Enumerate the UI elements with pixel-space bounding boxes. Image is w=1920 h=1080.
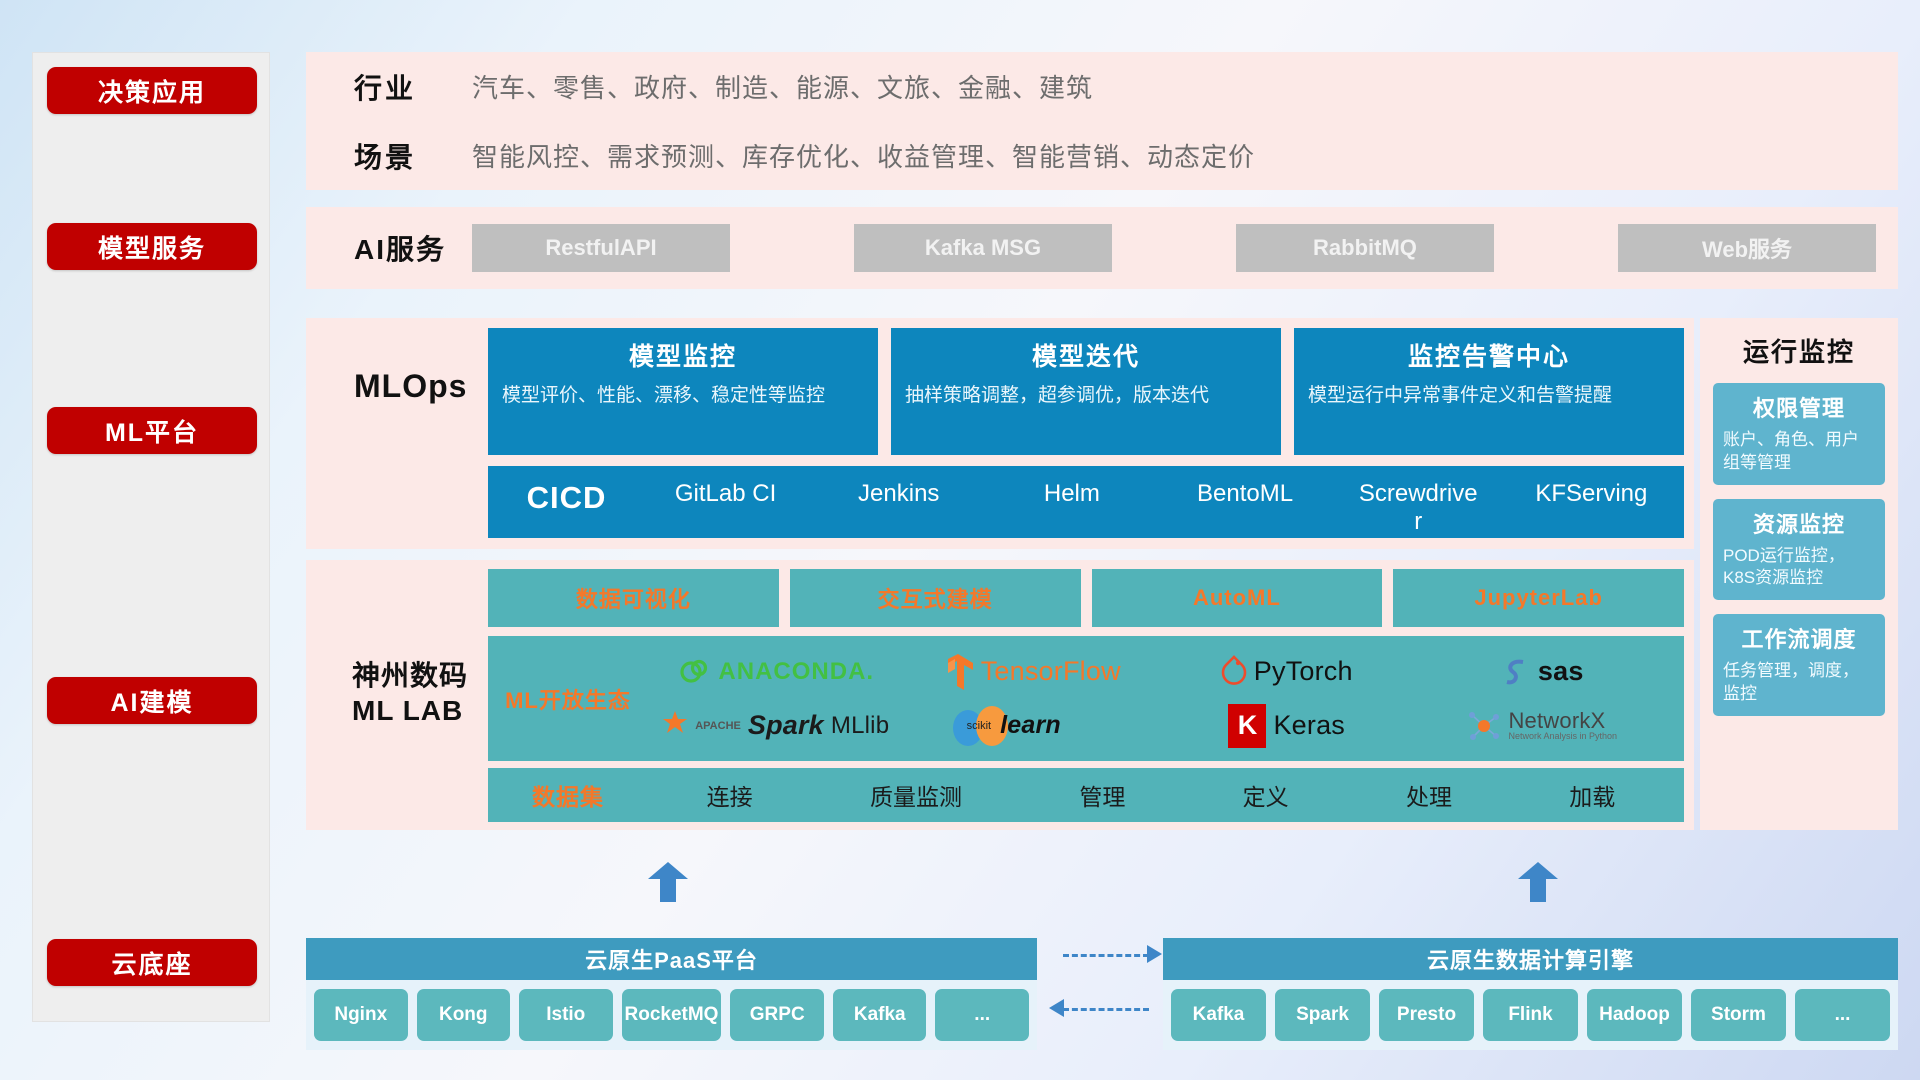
lab-tab-list: 数据可视化 交互式建模 AutoML JupyterLab (488, 569, 1684, 627)
rail-label: ML平台 (105, 413, 199, 449)
arrowhead-left-icon (1049, 999, 1064, 1017)
service-chip-rabbitmq[interactable]: RabbitMQ (1236, 224, 1494, 272)
dataset-bar: 数据集 连接 质量监测 管理 定义 处理 加载 (488, 768, 1684, 822)
lab-tab-jupyterlab[interactable]: JupyterLab (1393, 569, 1684, 627)
scenario-value: 智能风控、需求预测、库存优化、收益管理、智能营销、动态定价 (472, 137, 1255, 174)
card-title: 工作流调度 (1723, 622, 1875, 654)
rail-item-ai-modeling[interactable]: AI建模 (47, 677, 257, 724)
mlops-card-alert-center[interactable]: 监控告警中心 模型运行中异常事件定义和告警提醒 (1294, 328, 1684, 455)
dataset-item-connect[interactable]: 连接 (707, 778, 753, 812)
anaconda-logo-icon (677, 655, 711, 689)
card-desc: 模型运行中异常事件定义和告警提醒 (1308, 383, 1670, 409)
logo-label: sas (1538, 656, 1584, 687)
logo-networkx[interactable]: NetworkX Network Analysis in Python (1467, 699, 1617, 753)
logo-anaconda[interactable]: ANACONDA. (677, 645, 874, 699)
engine-chip-spark[interactable]: Spark (1275, 989, 1370, 1041)
service-chip-restfulapi[interactable]: RestfulAPI (472, 224, 730, 272)
cloud-paas-group: 云原生PaaS平台 Nginx Kong Istio RocketMQ GRPC… (306, 938, 1037, 1050)
cicd-item-helm[interactable]: Helm (1009, 480, 1135, 535)
mlops-card-model-iteration[interactable]: 模型迭代 抽样策略调整，超参调优，版本迭代 (891, 328, 1281, 455)
cloud-chip-rocketmq[interactable]: RocketMQ (622, 989, 722, 1041)
rail-label: AI建模 (110, 683, 193, 719)
logo-label: learn (1000, 711, 1061, 740)
scenario-label: 场景 (354, 136, 472, 176)
dashed-line-left (1063, 1008, 1149, 1011)
ml-lab-label-line1: 神州数码 (352, 658, 468, 693)
card-title: 资源监控 (1723, 507, 1875, 539)
application-band: 行业 汽车、零售、政府、制造、能源、文旅、金融、建筑 场景 智能风控、需求预测、… (306, 52, 1898, 190)
ml-lab-label: 神州数码 ML LAB (352, 658, 468, 728)
rail-label: 云底座 (111, 945, 192, 981)
spark-apache-label: APACHE (695, 720, 741, 732)
cloud-chip-grpc[interactable]: GRPC (730, 989, 824, 1041)
keras-logo-icon: K (1228, 704, 1266, 748)
mlops-card-list: 模型监控 模型评价、性能、漂移、稳定性等监控 模型迭代 抽样策略调整，超参调优，… (488, 328, 1684, 455)
cloud-chip-more[interactable]: ... (935, 989, 1029, 1041)
ml-lab-label-line2: ML LAB (352, 693, 468, 728)
cloud-paas-chip-list: Nginx Kong Istio RocketMQ GRPC Kafka ... (306, 980, 1037, 1050)
lab-tab-interactive-modeling[interactable]: 交互式建模 (790, 569, 1081, 627)
cloud-chip-kong[interactable]: Kong (417, 989, 511, 1041)
runtime-monitor-title: 运行监控 (1700, 318, 1898, 369)
engine-chip-hadoop[interactable]: Hadoop (1587, 989, 1682, 1041)
tensorflow-logo-icon (942, 653, 974, 691)
cloud-engine-title: 云原生数据计算引擎 (1163, 938, 1898, 980)
card-title: 权限管理 (1723, 391, 1875, 423)
arrow-engine-to-lab-icon (1518, 862, 1558, 902)
arrowhead-right-icon (1147, 945, 1162, 963)
logo-spark-mllib[interactable]: APACHE Spark MLlib (662, 699, 889, 753)
industry-value: 汽车、零售、政府、制造、能源、文旅、金融、建筑 (472, 68, 1093, 105)
card-title: 模型监控 (502, 337, 864, 373)
cicd-item-gitlab-ci[interactable]: GitLab CI (663, 480, 789, 535)
bidirectional-link-arrows (1063, 932, 1163, 1028)
logo-label: TensorFlow (981, 656, 1121, 687)
logo-label: MLlib (831, 712, 889, 740)
engine-chip-flink[interactable]: Flink (1483, 989, 1578, 1041)
ml-ecosystem-panel: ML开放生态 ANACONDA. TensorFlow (488, 636, 1684, 761)
mlops-band: MLOps 模型监控 模型评价、性能、漂移、稳定性等监控 模型迭代 抽样策略调整… (306, 318, 1694, 549)
runtime-monitor-panel: 运行监控 权限管理 账户、角色、用户组等管理 资源监控 POD运行监控，K8S资… (1700, 318, 1898, 830)
cicd-item-screwdriver[interactable]: Screwdriver (1355, 480, 1481, 535)
service-chip-kafka-msg[interactable]: Kafka MSG (854, 224, 1112, 272)
cicd-item-jenkins[interactable]: Jenkins (836, 480, 962, 535)
cloud-engine-group: 云原生数据计算引擎 Kafka Spark Presto Flink Hadoo… (1163, 938, 1898, 1050)
cloud-paas-title: 云原生PaaS平台 (306, 938, 1037, 980)
cloud-chip-kafka[interactable]: Kafka (833, 989, 927, 1041)
cloud-engine-chip-list: Kafka Spark Presto Flink Hadoop Storm ..… (1163, 980, 1898, 1050)
ai-service-chip-list: RestfulAPI Kafka MSG RabbitMQ Web服务 (472, 224, 1898, 272)
engine-chip-kafka[interactable]: Kafka (1171, 989, 1266, 1041)
ml-ecosystem-logo-grid: ANACONDA. TensorFlow PyTorch (648, 645, 1684, 753)
dataset-item-list: 连接 质量监测 管理 定义 处理 加载 (648, 778, 1684, 812)
rail-label: 模型服务 (98, 229, 206, 265)
cloud-chip-nginx[interactable]: Nginx (314, 989, 408, 1041)
dashed-line-right (1063, 954, 1149, 957)
card-desc: 模型评价、性能、漂移、稳定性等监控 (502, 383, 864, 409)
cloud-chip-istio[interactable]: Istio (519, 989, 613, 1041)
cicd-title: CICD (494, 480, 639, 516)
dataset-item-define[interactable]: 定义 (1243, 778, 1289, 812)
engine-chip-more[interactable]: ... (1795, 989, 1890, 1041)
monitor-card-workflow[interactable]: 工作流调度 任务管理，调度，监控 (1713, 614, 1885, 716)
card-desc: 任务管理，调度，监控 (1723, 660, 1875, 706)
spark-word: Spark (748, 710, 824, 741)
engine-chip-storm[interactable]: Storm (1691, 989, 1786, 1041)
card-desc: 账户、角色、用户组等管理 (1723, 429, 1875, 475)
cicd-item-kfserving[interactable]: KFServing (1528, 480, 1654, 535)
logo-label: NetworkX (1508, 709, 1617, 732)
ai-service-label: AI服务 (354, 228, 472, 268)
dataset-item-load[interactable]: 加载 (1569, 778, 1615, 812)
monitor-card-resource[interactable]: 资源监控 POD运行监控，K8S资源监控 (1713, 499, 1885, 601)
mlops-card-model-monitoring[interactable]: 模型监控 模型评价、性能、漂移、稳定性等监控 (488, 328, 878, 455)
ai-service-band: AI服务 RestfulAPI Kafka MSG RabbitMQ Web服务 (306, 207, 1898, 289)
cicd-bar: CICD GitLab CI Jenkins Helm BentoML Scre… (488, 466, 1684, 538)
card-title: 模型迭代 (905, 337, 1267, 373)
layer-rail: 决策应用 模型服务 ML平台 AI建模 云底座 (32, 52, 270, 1022)
lab-tab-data-visualization[interactable]: 数据可视化 (488, 569, 779, 627)
sas-logo-icon (1501, 656, 1531, 688)
cicd-item-bentoml[interactable]: BentoML (1182, 480, 1308, 535)
ml-lab-band: 神州数码 ML LAB 数据可视化 交互式建模 AutoML JupyterLa… (306, 560, 1694, 830)
pytorch-logo-icon (1221, 655, 1247, 689)
card-title: 监控告警中心 (1308, 337, 1670, 373)
ml-ecosystem-label: ML开放生态 (488, 683, 648, 715)
rail-item-cloud-base[interactable]: 云底座 (47, 939, 257, 986)
logo-keras[interactable]: K Keras (1228, 699, 1345, 753)
networkx-logo-icon (1467, 709, 1501, 743)
industry-row: 行业 汽车、零售、政府、制造、能源、文旅、金融、建筑 (306, 52, 1898, 121)
dataset-item-quality[interactable]: 质量监测 (870, 778, 962, 812)
monitor-card-permission[interactable]: 权限管理 账户、角色、用户组等管理 (1713, 383, 1885, 485)
dataset-item-manage[interactable]: 管理 (1079, 778, 1125, 812)
logo-tensorflow[interactable]: TensorFlow (942, 645, 1121, 699)
scenario-row: 场景 智能风控、需求预测、库存优化、收益管理、智能营销、动态定价 (306, 121, 1898, 190)
rail-item-decision-app[interactable]: 决策应用 (47, 67, 257, 114)
engine-chip-presto[interactable]: Presto (1379, 989, 1474, 1041)
industry-label: 行业 (354, 67, 472, 107)
rail-item-ml-platform[interactable]: ML平台 (47, 407, 257, 454)
dataset-label: 数据集 (488, 778, 648, 812)
dataset-item-process[interactable]: 处理 (1406, 778, 1452, 812)
logo-pytorch[interactable]: PyTorch (1221, 645, 1353, 699)
cicd-item-list: GitLab CI Jenkins Helm BentoML Screwdriv… (639, 480, 1678, 535)
logo-label: PyTorch (1254, 656, 1353, 687)
networkx-sublabel: Network Analysis in Python (1508, 732, 1617, 741)
card-desc: 抽样策略调整，超参调优，版本迭代 (905, 383, 1267, 409)
arrow-paas-to-lab-icon (648, 862, 688, 902)
diagram-canvas: 决策应用 模型服务 ML平台 AI建模 云底座 行业 汽车、零售、政府、制造、能… (0, 0, 1920, 1080)
spark-logo-icon (662, 711, 688, 741)
rail-item-model-service[interactable]: 模型服务 (47, 223, 257, 270)
scikit-word: scikit (967, 720, 991, 732)
logo-label: Keras (1273, 710, 1345, 741)
logo-scikit-learn[interactable]: scikit learn (950, 699, 1113, 753)
logo-sas[interactable]: sas (1501, 645, 1584, 699)
mlops-label: MLOps (354, 368, 467, 405)
card-desc: POD运行监控，K8S资源监控 (1723, 545, 1875, 591)
rail-label: 决策应用 (98, 73, 206, 109)
lab-tab-automl[interactable]: AutoML (1092, 569, 1383, 627)
logo-label: ANACONDA. (718, 658, 874, 686)
service-chip-web-service[interactable]: Web服务 (1618, 224, 1876, 272)
